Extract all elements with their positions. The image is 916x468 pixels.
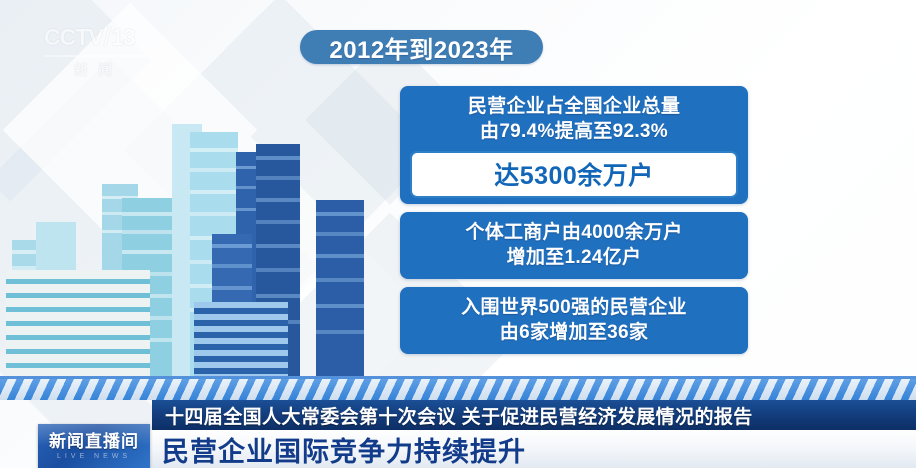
program-badge: 新闻直播间 LIVE NEWS [38, 424, 150, 468]
program-badge-subtitle: LIVE NEWS [57, 453, 131, 460]
broadcast-frame: CCTV / 13 新闻 [0, 0, 916, 468]
stripe-band-overlay [0, 376, 916, 400]
city-skyline-illustration [0, 80, 420, 380]
fact-card-line: 由79.4%提高至92.3% [410, 119, 738, 144]
watermark-sub-text: 新闻 [44, 60, 152, 80]
fact-card-line: 民营企业占全国企业总量 [410, 94, 738, 119]
lower-third-subtitle-bar: 十四届全国人大常委会第十次会议 关于促进民营经济发展情况的报告 [152, 400, 916, 430]
watermark-network-text: CCTV [44, 24, 103, 51]
fact-card: 入围世界500强的民营企业 由6家增加至36家 [400, 287, 748, 354]
watermark-slash: / [104, 22, 111, 53]
lower-third-headline: 民营企业国际竞争力持续提升 [162, 430, 526, 468]
fact-card-highlight-label: 达5300余万户 [494, 162, 654, 190]
fact-card: 民营企业占全国企业总量 由79.4%提高至92.3% 达5300余万户 [400, 86, 748, 204]
fact-card-line: 入围世界500强的民营企业 [410, 295, 738, 320]
lower-third-headline-bar: 民营企业国际竞争力持续提升 [130, 430, 916, 468]
date-range-pill: 2012年到2023年 [300, 30, 543, 64]
watermark-divider [44, 55, 152, 57]
fact-card-line: 增加至1.24亿户 [410, 245, 738, 270]
lower-third-subtitle: 十四届全国人大常委会第十次会议 关于促进民营经济发展情况的报告 [165, 402, 753, 429]
watermark-channel-number: 13 [111, 24, 135, 51]
fact-card: 个体工商户由4000余万户 增加至1.24亿户 [400, 212, 748, 279]
program-badge-title: 新闻直播间 [49, 433, 139, 450]
fact-card-line: 由6家增加至36家 [410, 320, 738, 345]
building [316, 200, 364, 380]
building-striped-light [6, 270, 150, 380]
watermark-network-row: CCTV / 13 [44, 22, 152, 53]
fact-card-highlight: 达5300余万户 [410, 151, 738, 198]
lower-third: 十四届全国人大常委会第十次会议 关于促进民营经济发展情况的报告 民营企业国际竞争… [0, 400, 916, 468]
fact-card-line: 个体工商户由4000余万户 [410, 220, 738, 245]
fact-cards-list: 民营企业占全国企业总量 由79.4%提高至92.3% 达5300余万户 个体工商… [400, 86, 748, 362]
date-range-label: 2012年到2023年 [329, 30, 513, 65]
building-striped-dark [194, 302, 288, 380]
cctv13-watermark-logo: CCTV / 13 新闻 [44, 22, 152, 70]
